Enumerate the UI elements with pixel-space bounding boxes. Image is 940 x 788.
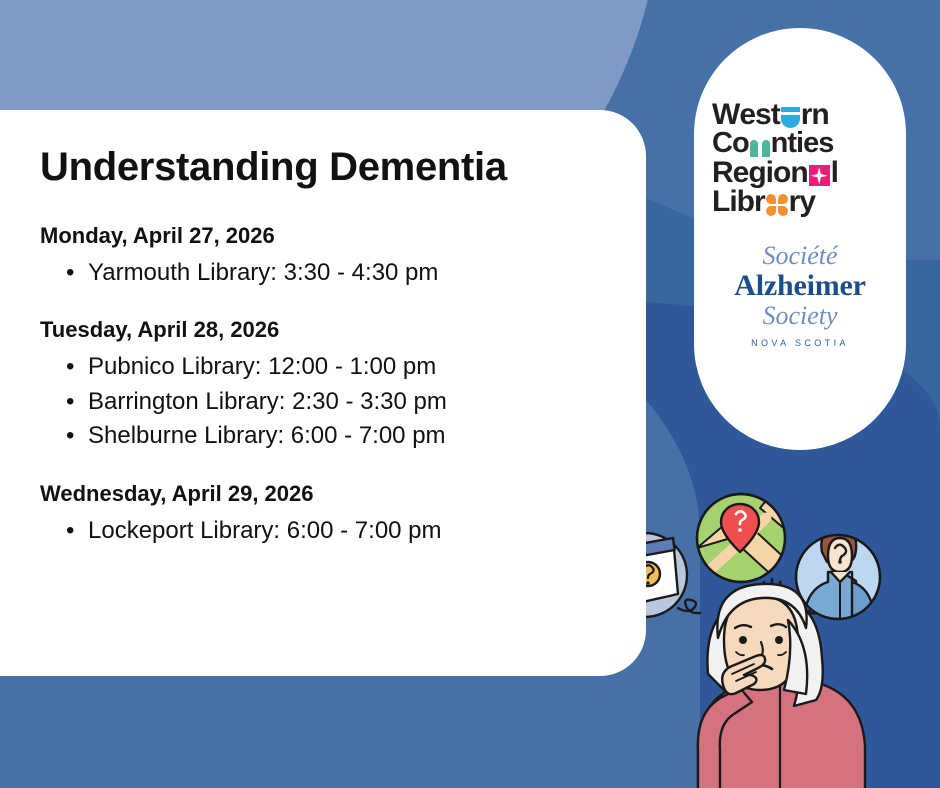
- session-list: Yarmouth Library: 3:30 - 4:30 pm: [40, 256, 606, 291]
- logo-text: est: [739, 100, 779, 129]
- content-card: Understanding Dementia Monday, April 27,…: [0, 110, 646, 676]
- day-label: Tuesday, April 28, 2026: [40, 316, 606, 344]
- logo-line-library: Librry: [712, 187, 888, 216]
- logo-text: W: [712, 100, 739, 129]
- poster-canvas: Understanding Dementia Monday, April 27,…: [0, 0, 940, 788]
- list-item: Yarmouth Library: 3:30 - 4:30 pm: [40, 256, 606, 291]
- pink-star-icon: [809, 165, 830, 186]
- day-label: Wednesday, April 29, 2026: [40, 480, 606, 508]
- logo-text: nties: [771, 129, 834, 157]
- logo-text: ry: [789, 187, 815, 216]
- logo-text: l: [831, 158, 838, 187]
- blue-cup-icon: [781, 107, 800, 128]
- logo-line-counties: Conties: [712, 129, 888, 157]
- orange-flower-icon: [766, 194, 788, 216]
- alzheimer-society-logo: Société Alzheimer Society NOVA SCOTIA: [705, 243, 895, 348]
- day-group: Monday, April 27, 2026 Yarmouth Library:…: [40, 222, 606, 290]
- page-title: Understanding Dementia: [40, 146, 606, 188]
- logo-line-western: Westrn: [712, 100, 888, 129]
- day-group: Tuesday, April 28, 2026 Pubnico Library:…: [40, 316, 606, 454]
- logo-society: Society: [705, 302, 895, 329]
- day-group: Wednesday, April 29, 2026 Lockeport Libr…: [40, 480, 606, 548]
- logo-text: Libr: [712, 187, 765, 216]
- list-item: Barrington Library: 2:30 - 3:30 pm: [40, 385, 606, 420]
- session-list: Lockeport Library: 6:00 - 7:00 pm: [40, 514, 606, 549]
- logo-alzheimer: Alzheimer: [705, 269, 895, 302]
- logo-panel: Westrn Conties Regionl Librry Société Al…: [694, 28, 906, 450]
- list-item: Lockeport Library: 6:00 - 7:00 pm: [40, 514, 606, 549]
- list-item: Shelburne Library: 6:00 - 7:00 pm: [40, 419, 606, 454]
- logo-text: Co: [712, 129, 749, 157]
- logo-societe: Société: [705, 243, 895, 269]
- day-label: Monday, April 27, 2026: [40, 222, 606, 250]
- logo-province: NOVA SCOTIA: [705, 338, 895, 348]
- logo-text: rn: [801, 100, 829, 129]
- session-list: Pubnico Library: 12:00 - 1:00 pm Barring…: [40, 350, 606, 454]
- logo-line-regional: Regionl: [712, 158, 888, 187]
- logo-text: Region: [712, 158, 808, 187]
- green-leaf-icon: [750, 140, 770, 157]
- list-item: Pubnico Library: 12:00 - 1:00 pm: [40, 350, 606, 385]
- western-counties-regional-library-logo: Westrn Conties Regionl Librry: [712, 100, 888, 217]
